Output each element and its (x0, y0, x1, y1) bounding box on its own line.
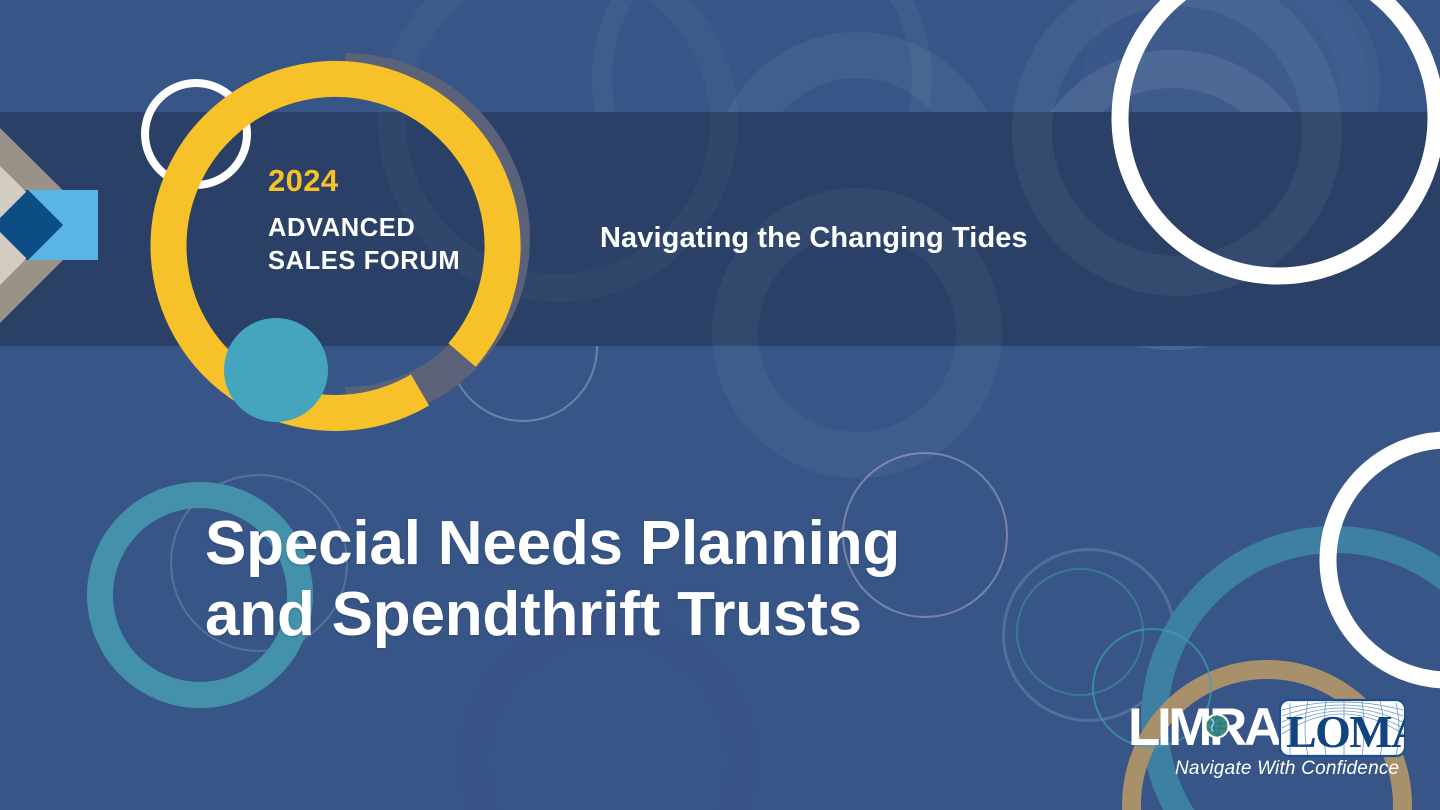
theme-tagline: Navigating the Changing Tides (600, 222, 1028, 255)
white-ring-top-right (1120, 0, 1436, 276)
page-title: Special Needs Planning and Spendthrift T… (205, 508, 900, 652)
loma-plate: LOMA (1280, 700, 1405, 757)
loma-text: LOMA (1286, 706, 1405, 757)
white-ring-top-right-svg (0, 0, 1440, 810)
forum-name: ADVANCED SALES FORUM (268, 212, 460, 277)
background-decoration-front (0, 0, 1440, 810)
brand-tagline: Navigate With Confidence (1175, 758, 1399, 780)
title-slide: 2024 ADVANCED SALES FORUM Navigating the… (0, 0, 1440, 810)
chevron-mark-icon (0, 128, 98, 323)
forum-year: 2024 (268, 165, 460, 196)
forum-lockup: 2024 ADVANCED SALES FORUM (268, 165, 460, 277)
limra-wordmark: LIMRA (1130, 698, 1281, 757)
white-ring-right (1328, 440, 1440, 680)
globe-icon (1207, 716, 1228, 737)
